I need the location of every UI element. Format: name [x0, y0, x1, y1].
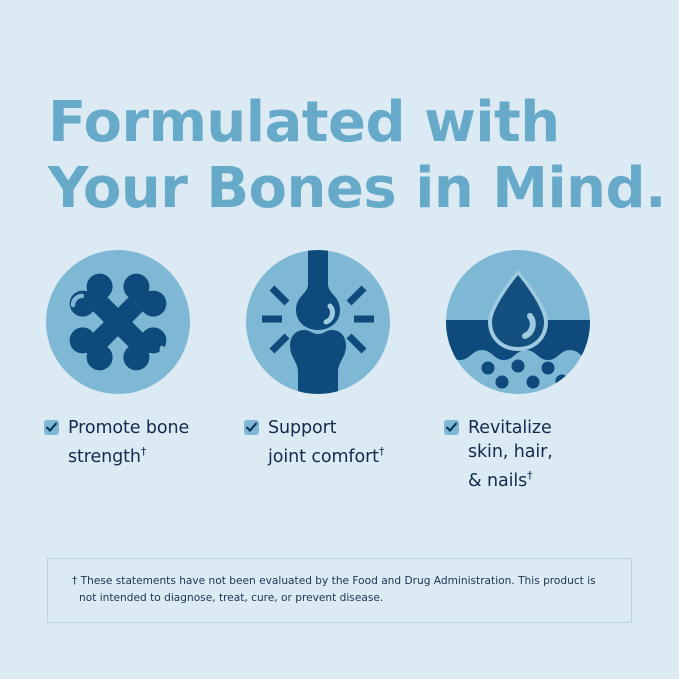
benefit-item-joint-comfort: Support joint comfort† [244, 248, 444, 493]
disclaimer-box: † These statements have not been evaluat… [47, 558, 632, 623]
checkbox-revitalize-skin-hair-nails[interactable] [444, 420, 459, 435]
page-title-line-1: Formulated with [48, 90, 648, 156]
benefit-label-joint-comfort: Support joint comfort† [268, 416, 384, 469]
marketing-infographic: Formulated with Your Bones in Mind. [0, 0, 679, 679]
benefits-list: Promote bone strength† [44, 248, 644, 493]
benefit-label-text: Support joint comfort [268, 418, 379, 467]
dagger-marker: † [141, 445, 146, 458]
dagger-marker: † [379, 445, 384, 458]
check-icon [446, 422, 457, 433]
water-droplet-skin-icon [444, 248, 592, 396]
page-title: Formulated with Your Bones in Mind. [48, 90, 648, 222]
disclaimer-text: † These statements have not been evaluat… [72, 573, 607, 607]
benefit-label-row-bone-strength: Promote bone strength† [44, 416, 244, 469]
benefit-label-text: Promote bone strength [68, 418, 189, 467]
knee-joint-icon [244, 248, 392, 396]
benefit-label-bone-strength: Promote bone strength† [68, 416, 189, 469]
check-icon [46, 422, 57, 433]
benefit-item-bone-strength: Promote bone strength† [44, 248, 244, 493]
benefit-label-row-joint-comfort: Support joint comfort† [244, 416, 444, 469]
benefit-label-row-skin-hair-nails: Revitalize skin, hair, & nails† [444, 416, 644, 493]
page-title-line-2: Your Bones in Mind. [48, 156, 648, 222]
crossed-bones-icon [44, 248, 192, 396]
checkbox-support-joint-comfort[interactable] [244, 420, 259, 435]
check-icon [246, 422, 257, 433]
benefit-label-text: Revitalize skin, hair, & nails [468, 418, 553, 491]
benefit-label-skin-hair-nails: Revitalize skin, hair, & nails† [468, 416, 553, 493]
benefit-item-skin-hair-nails: Revitalize skin, hair, & nails† [444, 248, 644, 493]
dagger-marker: † [527, 469, 532, 482]
checkbox-promote-bone-strength[interactable] [44, 420, 59, 435]
